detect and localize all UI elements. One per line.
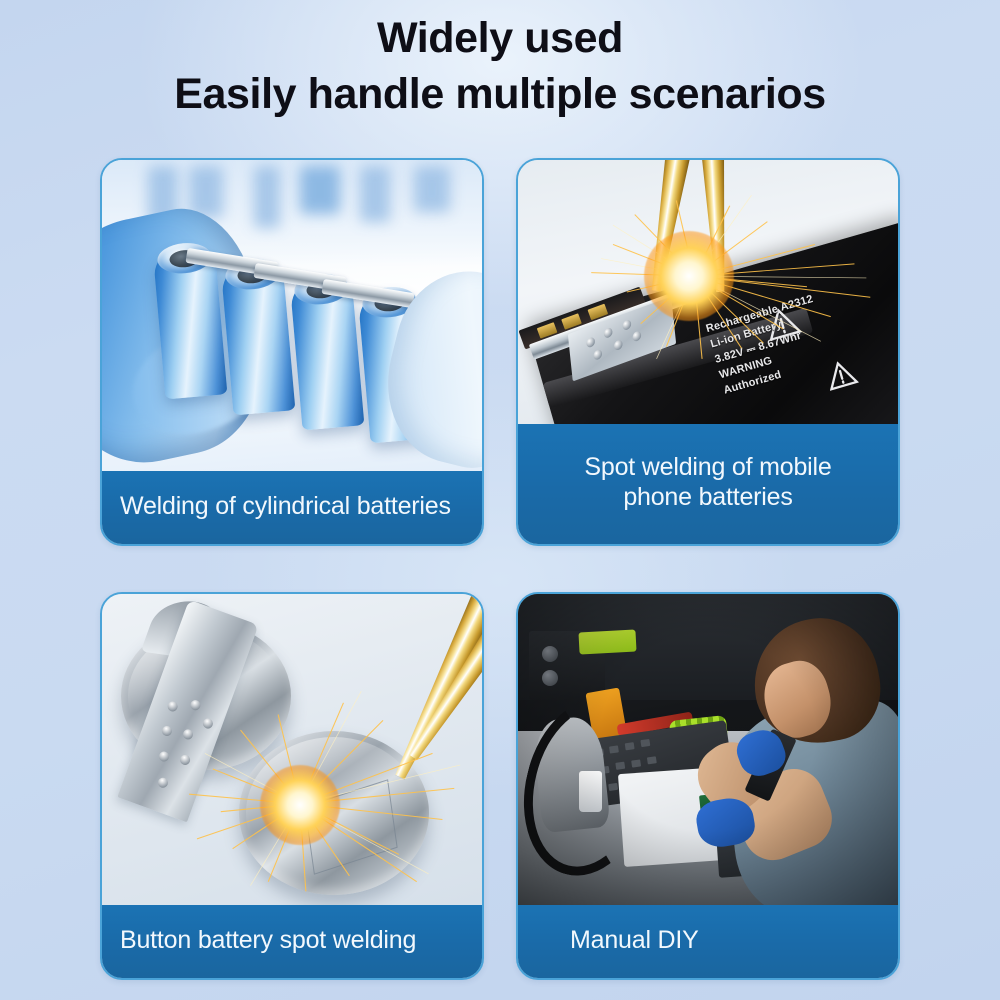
poster-canvas: Widely used Easily handle multiple scena… [0, 0, 1000, 1000]
photo-phone-battery-spot-welding: Rechargeable A2312 Li-ion Battery 3.82V … [518, 160, 898, 424]
scenario-card-spot-welding-mobile-phone-batteries[interactable]: Rechargeable A2312 Li-ion Battery 3.82V … [516, 158, 900, 546]
background-blur-shape [254, 166, 280, 228]
weld-dimple [156, 777, 169, 790]
card-caption-text: Manual DIY [570, 925, 882, 955]
headline-line-2: Easily handle multiple scenarios [0, 70, 1000, 120]
weld-spark-core [260, 765, 340, 845]
card-caption-bar: Spot welding of mobile phone batteries [518, 424, 898, 544]
cylindrical-battery-cell [153, 245, 228, 400]
photo-coin-cell-spot-welding [102, 594, 482, 905]
cylindrical-battery-cell [289, 276, 364, 431]
weld-dimple [179, 754, 192, 767]
background-blur-shape [360, 166, 390, 222]
weld-dimple [167, 700, 180, 713]
background-blur-shape [300, 166, 340, 214]
card-caption-line-1: Spot welding of mobile [584, 453, 831, 481]
weld-dimple [158, 751, 171, 764]
photo-cylindrical-battery-welding [102, 160, 482, 471]
scenario-card-grid: Welding of cylindrical batteries [100, 158, 900, 980]
weld-dimple [614, 339, 623, 351]
background-blur-shape [414, 166, 450, 212]
photo-vignette [518, 594, 898, 905]
card-caption-line-2: phone batteries [623, 483, 792, 511]
scenario-card-welding-cylindrical-batteries[interactable]: Welding of cylindrical batteries [100, 158, 484, 546]
card-caption-bar: Button battery spot welding [102, 905, 482, 978]
scenario-card-manual-diy[interactable]: Manual DIY [516, 592, 900, 980]
photo-technician-workbench [518, 594, 898, 905]
weld-spark-core [644, 231, 734, 321]
weld-dimple [202, 718, 215, 731]
weld-dimple [182, 728, 195, 741]
scenario-card-button-battery-spot-welding[interactable]: Button battery spot welding [100, 592, 484, 980]
headline-line-1: Widely used [0, 14, 1000, 64]
weld-dimple [161, 725, 174, 738]
page-title: Widely used Easily handle multiple scena… [0, 14, 1000, 120]
card-caption-bar: Welding of cylindrical batteries [102, 471, 482, 544]
card-caption-text: Spot welding of mobile phone batteries [536, 452, 880, 512]
weld-dimple [604, 327, 613, 339]
cylindrical-battery-cell [221, 260, 296, 415]
weld-dimple [633, 330, 642, 342]
card-caption-text: Button battery spot welding [120, 925, 466, 955]
weld-dimple [594, 348, 603, 360]
weld-dimple [586, 336, 595, 348]
card-caption-text: Welding of cylindrical batteries [120, 491, 466, 521]
weld-dimple [623, 319, 632, 331]
card-caption-bar: Manual DIY [518, 905, 898, 978]
weld-dimple [189, 700, 202, 713]
